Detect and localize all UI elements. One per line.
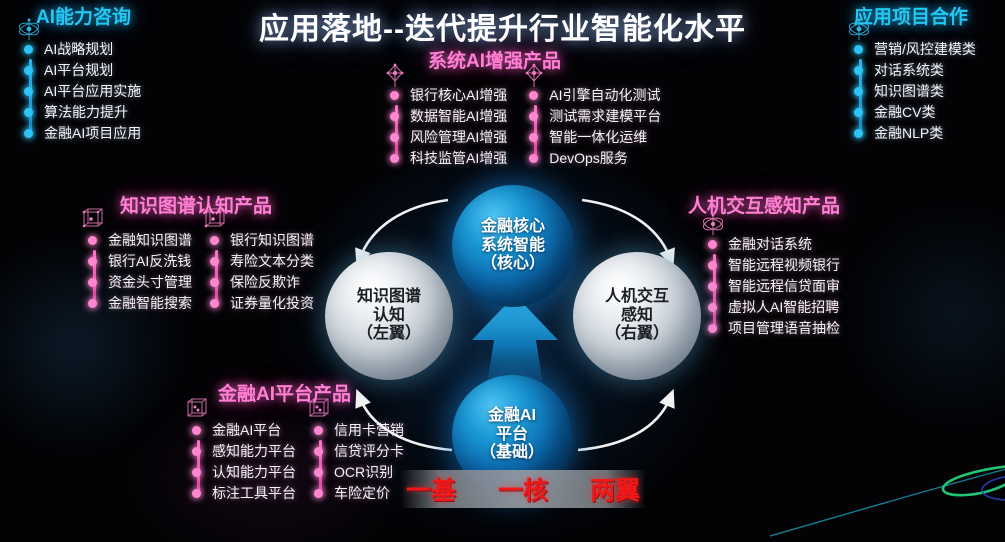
- list-item-label: OCR识别: [334, 462, 393, 483]
- list-item[interactable]: 知识图谱类: [874, 81, 976, 102]
- bullet-column: 银行知识图谱 寿险文本分类 保险反欺诈 证券量化投资: [208, 230, 314, 314]
- list-item[interactable]: AI战略规划: [44, 39, 141, 60]
- bullet-dot: [24, 108, 33, 117]
- slogan: 一基 一核 两翼: [400, 474, 646, 504]
- list-item-label: 金融AI平台: [212, 420, 281, 441]
- list-item-label: 银行知识图谱: [230, 230, 314, 251]
- list-item[interactable]: 科技监管AI增强: [410, 148, 507, 169]
- list-item[interactable]: 银行AI反洗钱: [108, 251, 192, 272]
- bullet-column: 金融AI平台 感知能力平台 认知能力平台 标注工具平台: [190, 420, 296, 504]
- node-line: （核心）: [481, 255, 545, 274]
- node-line: 知识图谱: [357, 288, 421, 307]
- bullet-dot: [854, 87, 863, 96]
- section-financial-ai-platform-products: 金融AI平台产品 金融AI平台 感知能力平台 认知能力平台 标注工: [190, 385, 404, 504]
- list-item[interactable]: 风险管理AI增强: [410, 127, 507, 148]
- bullet-dot: [708, 240, 717, 249]
- list-item[interactable]: 项目管理语音抽检: [728, 318, 840, 339]
- list-item-label: AI引擎自动化测试: [549, 85, 660, 106]
- bullet-dot: [390, 91, 399, 100]
- list-item-label: 营销/风控建模类: [874, 39, 976, 60]
- list-item-label: 认知能力平台: [212, 462, 296, 483]
- bullet-dot: [24, 66, 33, 75]
- bullet-column: 金融对话系统 智能远程视频银行 智能远程信贷面审 虚拟人AI智能招聘 项目管理语…: [706, 234, 840, 339]
- list-item-label: 信贷评分卡: [334, 441, 404, 462]
- node-line: 平台: [480, 426, 544, 445]
- bullet-dot: [529, 154, 538, 163]
- list-item-label: 数据智能AI增强: [410, 106, 507, 127]
- list-item[interactable]: DevOps服务: [549, 148, 661, 169]
- bullet-dot: [192, 489, 201, 498]
- list-item-label: 智能远程信贷面审: [728, 276, 840, 297]
- list-item[interactable]: 金融CV类: [874, 102, 976, 123]
- network-node-icon: [698, 212, 728, 238]
- list-item[interactable]: 信用卡营销: [334, 420, 404, 441]
- node-line: 感知: [605, 307, 669, 326]
- list-item[interactable]: 寿险文本分类: [230, 251, 314, 272]
- bullet-dot: [88, 278, 97, 287]
- bullet-dot: [314, 447, 323, 456]
- bullet-dot: [88, 236, 97, 245]
- bullet-dot: [708, 282, 717, 291]
- list-item-label: 知识图谱类: [874, 81, 944, 102]
- bullet-dot: [529, 91, 538, 100]
- diamond-node-icon: [519, 63, 549, 89]
- list-item-label: 金融智能搜索: [108, 293, 192, 314]
- list-item[interactable]: 智能一体化运维: [549, 127, 661, 148]
- section-knowledge-graph-cognition-products: 知识图谱认知产品 金融知识图谱 银行AI反洗钱: [86, 197, 314, 314]
- list-item[interactable]: 虚拟人AI智能招聘: [728, 297, 840, 318]
- section-application-project-cooperation: 应用项目合作 营销/风控建模类 对话系统类 知识图谱类 金融CV类 金融NL: [852, 8, 976, 144]
- list-item[interactable]: 智能远程视频银行: [728, 255, 840, 276]
- list-item-label: 金融知识图谱: [108, 230, 192, 251]
- node-line: （左翼）: [357, 325, 421, 344]
- cube-node-icon: [78, 208, 108, 234]
- bullet-dot: [210, 278, 219, 287]
- list-item[interactable]: AI平台应用实施: [44, 81, 141, 102]
- bullet-column: 信用卡营销 信贷评分卡 OCR识别 车险定价: [312, 420, 404, 504]
- list-item[interactable]: 营销/风控建模类: [874, 39, 976, 60]
- list-item[interactable]: 金融AI平台: [212, 420, 296, 441]
- bullet-dot: [390, 112, 399, 121]
- bullet-dot: [854, 66, 863, 75]
- list-item-label: 金融AI项目应用: [44, 123, 141, 144]
- bullet-column: 营销/风控建模类 对话系统类 知识图谱类 金融CV类 金融NLP类: [852, 39, 976, 144]
- bullet-dot: [192, 447, 201, 456]
- list-item[interactable]: 证券量化投资: [230, 293, 314, 314]
- bullet-dot: [854, 45, 863, 54]
- list-item-label: 银行AI反洗钱: [108, 251, 191, 272]
- list-item-label: 金融CV类: [874, 102, 935, 123]
- list-item-label: 信用卡营销: [334, 420, 404, 441]
- list-item-label: 感知能力平台: [212, 441, 296, 462]
- list-item-label: 金融对话系统: [728, 234, 812, 255]
- list-item-label: 银行核心AI增强: [410, 85, 507, 106]
- bullet-dot: [390, 133, 399, 142]
- list-item[interactable]: 资金头寸管理: [108, 272, 192, 293]
- bullet-column: AI引擎自动化测试 测试需求建模平台 智能一体化运维 DevOps服务: [527, 85, 661, 169]
- bullet-dot: [24, 87, 33, 96]
- node-line: 金融AI: [480, 407, 544, 426]
- list-item[interactable]: 银行核心AI增强: [410, 85, 507, 106]
- list-item-label: 科技监管AI增强: [410, 148, 507, 169]
- slogan-part: 一基: [406, 471, 456, 507]
- list-item-label: AI战略规划: [44, 39, 113, 60]
- list-item-label: DevOps服务: [549, 148, 628, 169]
- bullet-dot: [708, 303, 717, 312]
- bullet-dot: [88, 257, 97, 266]
- section-title: AI能力咨询: [36, 8, 141, 29]
- bullet-dot: [314, 468, 323, 477]
- list-item[interactable]: 金融NLP类: [874, 123, 976, 144]
- bullet-dot: [854, 108, 863, 117]
- bullet-dot: [24, 129, 33, 138]
- list-item[interactable]: 信贷评分卡: [334, 441, 404, 462]
- list-item-label: 风险管理AI增强: [410, 127, 507, 148]
- diamond-node-icon: [380, 63, 410, 89]
- list-item[interactable]: AI平台规划: [44, 60, 141, 81]
- list-item-label: 保险反欺诈: [230, 272, 300, 293]
- list-item[interactable]: 感知能力平台: [212, 441, 296, 462]
- node-line: 认知: [357, 307, 421, 326]
- list-item[interactable]: 保险反欺诈: [230, 272, 314, 293]
- list-item-label: 标注工具平台: [212, 483, 296, 504]
- bullet-dot: [708, 261, 717, 270]
- bullet-dot: [390, 154, 399, 163]
- section-system-ai-enhancement-products: 系统AI增强产品 银行核心AI增强 数据智能AI增强 风险管理A: [388, 52, 661, 169]
- bullet-dot: [210, 257, 219, 266]
- list-item-label: 智能一体化运维: [549, 127, 647, 148]
- bullet-dot: [210, 236, 219, 245]
- network-node-icon: [14, 17, 44, 43]
- list-item[interactable]: 智能远程信贷面审: [728, 276, 840, 297]
- list-item-label: 虚拟人AI智能招聘: [728, 297, 839, 318]
- bullet-dot: [192, 468, 201, 477]
- list-item[interactable]: 算法能力提升: [44, 102, 141, 123]
- bullet-dot: [314, 489, 323, 498]
- cube-node-icon: [304, 398, 334, 424]
- list-item[interactable]: 金融对话系统: [728, 234, 840, 255]
- list-item-label: 金融NLP类: [874, 123, 943, 144]
- network-node-icon: [844, 17, 874, 43]
- list-item-label: 测试需求建模平台: [549, 106, 661, 127]
- list-item[interactable]: 对话系统类: [874, 60, 976, 81]
- list-item[interactable]: 银行知识图谱: [230, 230, 314, 251]
- list-item[interactable]: 标注工具平台: [212, 483, 296, 504]
- list-item[interactable]: 认知能力平台: [212, 462, 296, 483]
- node-line: 金融核心: [481, 218, 545, 237]
- node-core-system[interactable]: 金融核心 系统智能 （核心）: [452, 185, 574, 307]
- list-item-label: 对话系统类: [874, 60, 944, 81]
- list-item-label: 寿险文本分类: [230, 251, 314, 272]
- node-line: 人机交互: [605, 288, 669, 307]
- list-item-label: AI平台规划: [44, 60, 113, 81]
- node-line: （基础）: [480, 444, 544, 463]
- list-item[interactable]: 金融知识图谱: [108, 230, 192, 251]
- list-item-label: 证券量化投资: [230, 293, 314, 314]
- list-item-label: 智能远程视频银行: [728, 255, 840, 276]
- list-item-label: 算法能力提升: [44, 102, 128, 123]
- section-ai-capability-consulting: AI能力咨询 AI战略规划 AI平台规划 AI平台应用实施 算法能力提升 金: [22, 8, 141, 144]
- bullet-dot: [192, 426, 201, 435]
- list-item[interactable]: 金融AI项目应用: [44, 123, 141, 144]
- list-item-label: 项目管理语音抽检: [728, 318, 840, 339]
- list-item[interactable]: 数据智能AI增强: [410, 106, 507, 127]
- list-item-label: 资金头寸管理: [108, 272, 192, 293]
- list-item[interactable]: AI引擎自动化测试: [549, 85, 661, 106]
- bullet-dot: [88, 299, 97, 308]
- list-item[interactable]: 车险定价: [334, 483, 404, 504]
- bullet-dot: [210, 299, 219, 308]
- slogan-part: 两翼: [590, 471, 640, 507]
- cube-node-icon: [200, 208, 230, 234]
- bullet-dot: [854, 129, 863, 138]
- node-line: （右翼）: [605, 325, 669, 344]
- section-human-machine-interaction-perception-products: 人机交互感知产品 金融对话系统 智能远程视频银行 智能远程信贷面审 虚拟人AI智…: [688, 197, 840, 339]
- decorative-curves: [770, 440, 1005, 542]
- bullet-dot: [24, 45, 33, 54]
- node-human-interaction[interactable]: 人机交互 感知 （右翼）: [573, 252, 701, 380]
- bullet-dot: [708, 324, 717, 333]
- background-glow-right: [840, 190, 1005, 440]
- bullet-column: AI战略规划 AI平台规划 AI平台应用实施 算法能力提升 金融AI项目应用: [22, 39, 141, 144]
- bullet-column: 金融知识图谱 银行AI反洗钱 资金头寸管理 金融智能搜索: [86, 230, 192, 314]
- cube-node-icon: [182, 398, 212, 424]
- list-item-label: AI平台应用实施: [44, 81, 141, 102]
- list-item-label: 车险定价: [334, 483, 390, 504]
- list-item[interactable]: 金融智能搜索: [108, 293, 192, 314]
- node-line: 系统智能: [481, 237, 545, 256]
- bullet-column: 银行核心AI增强 数据智能AI增强 风险管理AI增强 科技监管AI增强: [388, 85, 507, 169]
- list-item[interactable]: 测试需求建模平台: [549, 106, 661, 127]
- bullet-dot: [314, 426, 323, 435]
- slide-canvas: 应用落地--迭代提升行业智能化水平 AI能力咨询 AI战略规划 AI平台规划 A…: [0, 0, 1005, 542]
- node-knowledge-graph[interactable]: 知识图谱 认知 （左翼）: [325, 252, 453, 380]
- upward-arrow: [472, 295, 558, 385]
- slogan-part: 一核: [498, 471, 548, 507]
- list-item[interactable]: OCR识别: [334, 462, 404, 483]
